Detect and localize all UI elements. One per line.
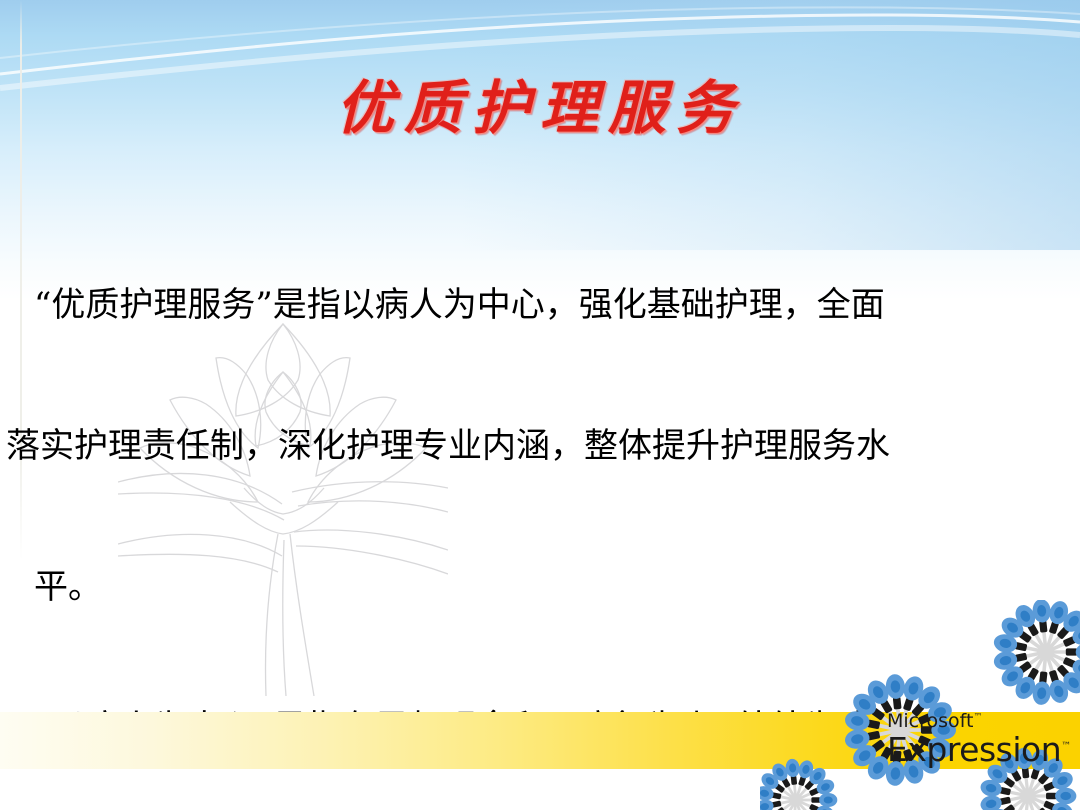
- body-line-3: 平。: [6, 564, 1006, 611]
- microsoft-expression-logo: Microsoft™ Expression™: [887, 712, 1067, 766]
- brand-microsoft-text: Microsoft™: [887, 712, 1067, 731]
- brand-microsoft-label: Microsoft: [887, 710, 973, 732]
- body-line-1: “优质护理服务”是指以病人为中心，强化基础护理，全面: [6, 282, 1006, 329]
- accent-bar-orange-top: [29, 0, 64, 31]
- brand-expression-text: Expression™: [887, 733, 1067, 766]
- brand-expression-label: Expression: [887, 730, 1061, 769]
- slide-title: 优质护理服务: [0, 78, 1080, 139]
- body-line-2: 落实护理责任制，深化护理专业内涵，整体提升护理服务水: [6, 423, 1006, 470]
- trademark-symbol-bottom: ™: [1061, 741, 1071, 752]
- presentation-slide: 优质护理服务 “优质护理服务”是指以病人为中心，强化基础护理，全面 落实护理责任…: [0, 0, 1080, 810]
- trademark-symbol-top: ™: [973, 713, 982, 723]
